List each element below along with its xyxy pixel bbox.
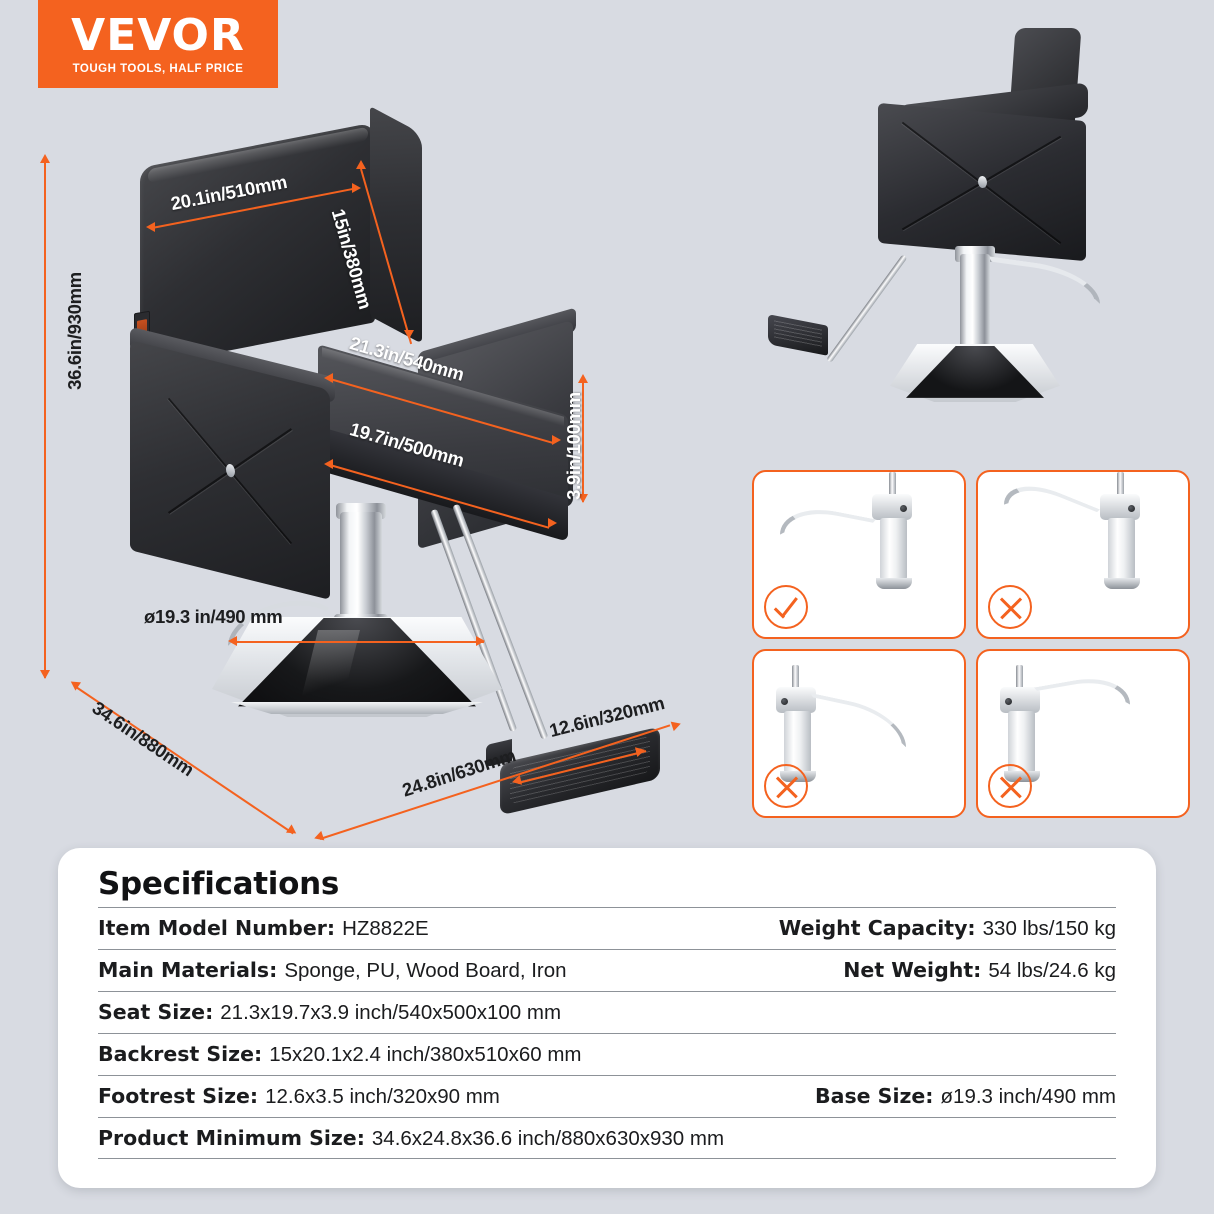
pump-head <box>872 494 912 520</box>
spec-value: 54 lbs/24.6 kg <box>988 959 1116 983</box>
arrow-left-icon <box>324 373 333 383</box>
dim-label-base-diameter: ø19.3 in/490 mm <box>144 606 282 628</box>
spec-key: Seat Size: <box>98 1000 213 1024</box>
vevor-logo: VEVOR TOUGH TOOLS, HALF PRICE <box>38 0 278 88</box>
arrow-right-icon <box>286 824 299 837</box>
base-edge <box>214 702 500 714</box>
spec-row-product-minimum-size: Product Minimum Size: 34.6x24.8x36.6 inc… <box>98 1117 1116 1159</box>
pump-head <box>1100 494 1140 520</box>
pump-lever-bar <box>780 501 876 554</box>
arrow-left-icon <box>228 636 237 646</box>
spec-value: 12.6x3.5 inch/320x90 mm <box>265 1085 500 1109</box>
spec-key: Net Weight: <box>843 958 981 982</box>
main-chair-diagram: 36.6in/930mm 20.1in/510mm 15in/380mm 21.… <box>0 90 740 850</box>
brand-tagline: TOUGH TOOLS, HALF PRICE <box>73 63 244 75</box>
arrow-right-icon <box>548 518 557 528</box>
spec-value: 21.3x19.7x3.9 inch/540x500x100 mm <box>220 1001 561 1025</box>
pump-lever-bar <box>1004 471 1100 544</box>
side-view-footrest-bar <box>826 254 907 363</box>
status-badge-cross-icon <box>988 764 1032 808</box>
spec-pair-materials: Main Materials: Sponge, PU, Wood Board, … <box>98 958 567 983</box>
arrow-left-icon <box>313 831 325 843</box>
chair-side-view-image <box>750 18 1190 438</box>
upholstery-stud-icon <box>978 176 987 189</box>
spec-value: 15x20.1x2.4 inch/380x510x60 mm <box>269 1043 581 1067</box>
side-view-pump-lever <box>988 256 1100 304</box>
spec-key: Product Minimum Size: <box>98 1126 365 1150</box>
pump-panel-incorrect-3 <box>976 649 1190 818</box>
brand-wordmark: VEVOR <box>71 14 245 58</box>
spec-pair-product-minimum-size: Product Minimum Size: 34.6x24.8x36.6 inc… <box>98 1126 1116 1151</box>
spec-pair-seat-size: Seat Size: 21.3x19.7x3.9 inch/540x500x10… <box>98 1000 1116 1025</box>
arrow-down-icon <box>40 670 50 679</box>
pump-bolt-icon <box>1128 505 1135 512</box>
arrow-up-icon <box>578 374 588 383</box>
arrow-down-icon <box>404 330 414 339</box>
spec-value: 330 lbs/150 kg <box>983 917 1116 941</box>
pump-body <box>1108 518 1135 580</box>
arrow-right-icon <box>671 719 683 731</box>
status-badge-cross-icon <box>764 764 808 808</box>
arrow-left-icon <box>146 222 155 232</box>
side-view-armrest-panel <box>878 103 1086 261</box>
spec-pair-model: Item Model Number: HZ8822E <box>98 916 429 941</box>
arrow-left-icon <box>324 459 333 469</box>
arrow-up-icon <box>356 160 366 169</box>
spec-key: Backrest Size: <box>98 1042 262 1066</box>
footrest-ribs-icon <box>774 320 822 348</box>
status-badge-check-icon <box>764 585 808 629</box>
spec-row-seat-size: Seat Size: 21.3x19.7x3.9 inch/540x500x10… <box>98 991 1116 1033</box>
arrow-right-icon <box>552 435 561 445</box>
spec-pair-weight-capacity: Weight Capacity: 330 lbs/150 kg <box>779 916 1116 941</box>
pump-lever-bar <box>810 693 906 747</box>
spec-pair-backrest-size: Backrest Size: 15x20.1x2.4 inch/380x510x… <box>98 1042 1116 1067</box>
spec-pair-footrest-size: Footrest Size: 12.6x3.5 inch/320x90 mm <box>98 1084 500 1109</box>
spec-key: Item Model Number: <box>98 916 335 940</box>
page-title: Specifications <box>98 866 1116 907</box>
spec-row-backrest-size: Backrest Size: 15x20.1x2.4 inch/380x510x… <box>98 1033 1116 1075</box>
pump-panel-incorrect-2 <box>752 649 966 818</box>
pump-panel-incorrect-1 <box>976 470 1190 639</box>
spec-pair-base-size: Base Size: ø19.3 inch/490 mm <box>815 1084 1116 1109</box>
side-view-footrest <box>768 314 828 356</box>
spec-key: Main Materials: <box>98 958 277 982</box>
arrow-right-icon <box>476 636 485 646</box>
spec-value: ø19.3 inch/490 mm <box>941 1085 1116 1109</box>
spec-key: Footrest Size: <box>98 1084 258 1108</box>
pump-cap <box>876 578 912 589</box>
spec-key: Weight Capacity: <box>779 916 976 940</box>
pump-bolt-icon <box>900 505 907 512</box>
pump-body <box>880 518 907 580</box>
arrow-up-icon <box>40 154 50 163</box>
spec-row-footrest-size: Footrest Size: 12.6x3.5 inch/320x90 mm B… <box>98 1075 1116 1117</box>
side-view-cylinder <box>960 254 990 350</box>
dim-label-overall-width: 34.6in/880mm <box>88 697 198 781</box>
hydraulic-cylinder <box>340 512 382 622</box>
pump-bolt-icon <box>1005 698 1012 705</box>
spec-row-model: Item Model Number: HZ8822E Weight Capaci… <box>98 907 1116 949</box>
spec-value: HZ8822E <box>342 917 429 941</box>
arrow-right-icon <box>352 183 361 193</box>
dim-line-base-diameter <box>234 641 484 643</box>
pump-lever-bar <box>1034 671 1130 722</box>
spec-value: 34.6x24.8x36.6 inch/880x630x930 mm <box>372 1127 724 1151</box>
spec-key: Base Size: <box>815 1084 934 1108</box>
pump-lever-orientation-guide <box>752 470 1190 818</box>
specifications-card: Specifications Item Model Number: HZ8822… <box>58 848 1156 1188</box>
spec-pair-net-weight: Net Weight: 54 lbs/24.6 kg <box>843 958 1116 983</box>
spec-row-materials: Main Materials: Sponge, PU, Wood Board, … <box>98 949 1116 991</box>
pump-bolt-icon <box>781 698 788 705</box>
upholstery-stud-icon <box>226 463 235 478</box>
pump-panel-correct <box>752 470 966 639</box>
dim-line-overall-height <box>44 162 46 678</box>
pump-cap <box>1104 578 1140 589</box>
dim-label-seat-thickness: 3.9in/100mm <box>563 392 585 500</box>
spec-value: Sponge, PU, Wood Board, Iron <box>284 959 566 983</box>
dim-label-overall-height: 36.6in/930mm <box>64 272 86 390</box>
status-badge-cross-icon <box>988 585 1032 629</box>
